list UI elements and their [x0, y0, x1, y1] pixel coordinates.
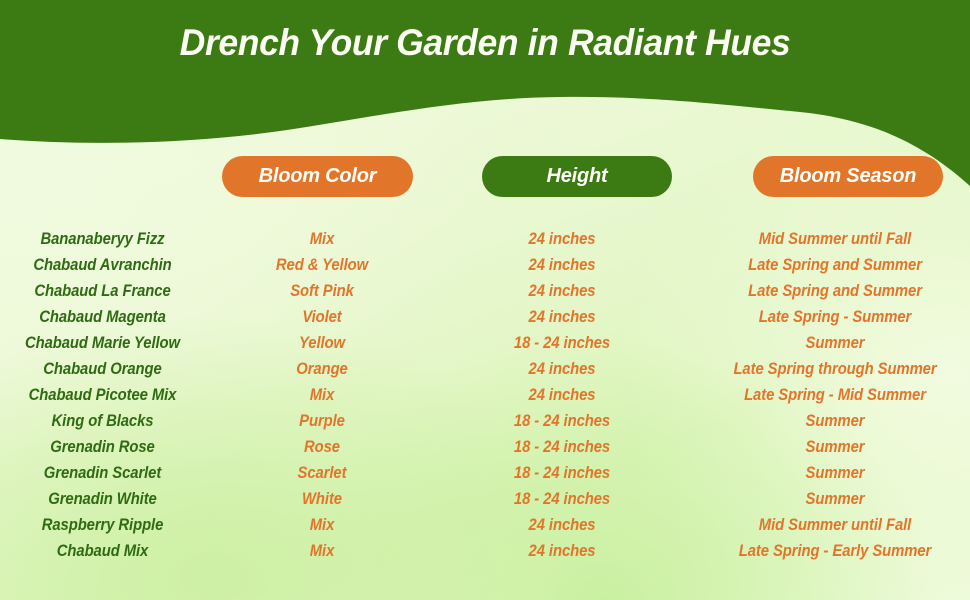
cell-variety-name: Chabaud Picotee Mix	[10, 386, 195, 405]
cell-bloom-color: Violet	[255, 308, 390, 327]
cell-bloom-season: Late Spring through Summer	[718, 360, 952, 379]
cell-bloom-color: Orange	[255, 360, 390, 379]
column-header-bloom-color: Bloom Color	[222, 156, 413, 197]
cell-variety-name: Raspberry Ripple	[10, 516, 195, 535]
column-header-height: Height	[482, 156, 672, 197]
cell-bloom-season: Late Spring - Summer	[718, 308, 952, 327]
cell-bloom-season: Summer	[718, 464, 952, 483]
cell-bloom-color: Yellow	[255, 334, 390, 353]
cell-bloom-color: Red & Yellow	[255, 256, 390, 275]
cell-variety-name: Chabaud Magenta	[10, 308, 195, 327]
cell-height: 18 - 24 inches	[477, 490, 648, 509]
cell-bloom-season: Summer	[718, 438, 952, 457]
cell-bloom-season: Summer	[718, 334, 952, 353]
cell-bloom-season: Summer	[718, 412, 952, 431]
table-row: Chabaud MixMix24 inchesLate Spring - Ear…	[0, 538, 970, 564]
cell-height: 18 - 24 inches	[477, 334, 648, 353]
variety-table: Bananaberyy FizzMix24 inchesMid Summer u…	[0, 226, 970, 564]
cell-variety-name: Bananaberyy Fizz	[10, 230, 195, 249]
cell-height: 18 - 24 inches	[477, 438, 648, 457]
cell-bloom-season: Late Spring and Summer	[718, 282, 952, 301]
cell-height: 24 inches	[477, 308, 648, 327]
cell-height: 18 - 24 inches	[477, 464, 648, 483]
page-title: Drench Your Garden in Radiant Hues	[19, 22, 950, 64]
column-header-bloom-season: Bloom Season	[753, 156, 943, 197]
cell-variety-name: Grenadin Rose	[10, 438, 195, 457]
table-row: Bananaberyy FizzMix24 inchesMid Summer u…	[0, 226, 970, 252]
table-row: Grenadin ScarletScarlet18 - 24 inchesSum…	[0, 460, 970, 486]
cell-height: 24 inches	[477, 542, 648, 561]
cell-bloom-color: Mix	[255, 230, 390, 249]
cell-height: 24 inches	[477, 230, 648, 249]
table-row: Chabaud Marie YellowYellow18 - 24 inches…	[0, 330, 970, 356]
table-row: Grenadin RoseRose18 - 24 inchesSummer	[0, 434, 970, 460]
cell-bloom-color: Scarlet	[255, 464, 390, 483]
cell-bloom-season: Mid Summer until Fall	[718, 230, 952, 249]
cell-height: 24 inches	[477, 516, 648, 535]
cell-bloom-color: White	[255, 490, 390, 509]
cell-bloom-season: Late Spring and Summer	[718, 256, 952, 275]
cell-variety-name: Grenadin Scarlet	[10, 464, 195, 483]
cell-bloom-season: Summer	[718, 490, 952, 509]
table-row: Chabaud Picotee MixMix24 inchesLate Spri…	[0, 382, 970, 408]
cell-bloom-season: Late Spring - Mid Summer	[718, 386, 952, 405]
cell-variety-name: Chabaud Marie Yellow	[10, 334, 195, 353]
cell-height: 24 inches	[477, 256, 648, 275]
table-row: Chabaud AvranchinRed & Yellow24 inchesLa…	[0, 252, 970, 278]
cell-height: 18 - 24 inches	[477, 412, 648, 431]
cell-bloom-color: Rose	[255, 438, 390, 457]
cell-bloom-season: Mid Summer until Fall	[718, 516, 952, 535]
table-row: Raspberry RippleMix24 inchesMid Summer u…	[0, 512, 970, 538]
cell-height: 24 inches	[477, 282, 648, 301]
cell-bloom-color: Purple	[255, 412, 390, 431]
table-row: Grenadin WhiteWhite18 - 24 inchesSummer	[0, 486, 970, 512]
cell-bloom-season: Late Spring - Early Summer	[718, 542, 952, 561]
cell-height: 24 inches	[477, 360, 648, 379]
table-row: King of BlacksPurple18 - 24 inchesSummer	[0, 408, 970, 434]
cell-bloom-color: Mix	[255, 542, 390, 561]
cell-bloom-color: Mix	[255, 386, 390, 405]
infographic-canvas: Drench Your Garden in Radiant Hues Bloom…	[0, 0, 970, 600]
cell-variety-name: Chabaud La France	[10, 282, 195, 301]
table-row: Chabaud OrangeOrange24 inchesLate Spring…	[0, 356, 970, 382]
cell-variety-name: King of Blacks	[10, 412, 195, 431]
cell-variety-name: Chabaud Mix	[10, 542, 195, 561]
cell-height: 24 inches	[477, 386, 648, 405]
cell-bloom-color: Soft Pink	[255, 282, 390, 301]
table-row: Chabaud La FranceSoft Pink24 inchesLate …	[0, 278, 970, 304]
cell-variety-name: Chabaud Orange	[10, 360, 195, 379]
cell-variety-name: Chabaud Avranchin	[10, 256, 195, 275]
cell-variety-name: Grenadin White	[10, 490, 195, 509]
cell-bloom-color: Mix	[255, 516, 390, 535]
table-row: Chabaud MagentaViolet24 inchesLate Sprin…	[0, 304, 970, 330]
